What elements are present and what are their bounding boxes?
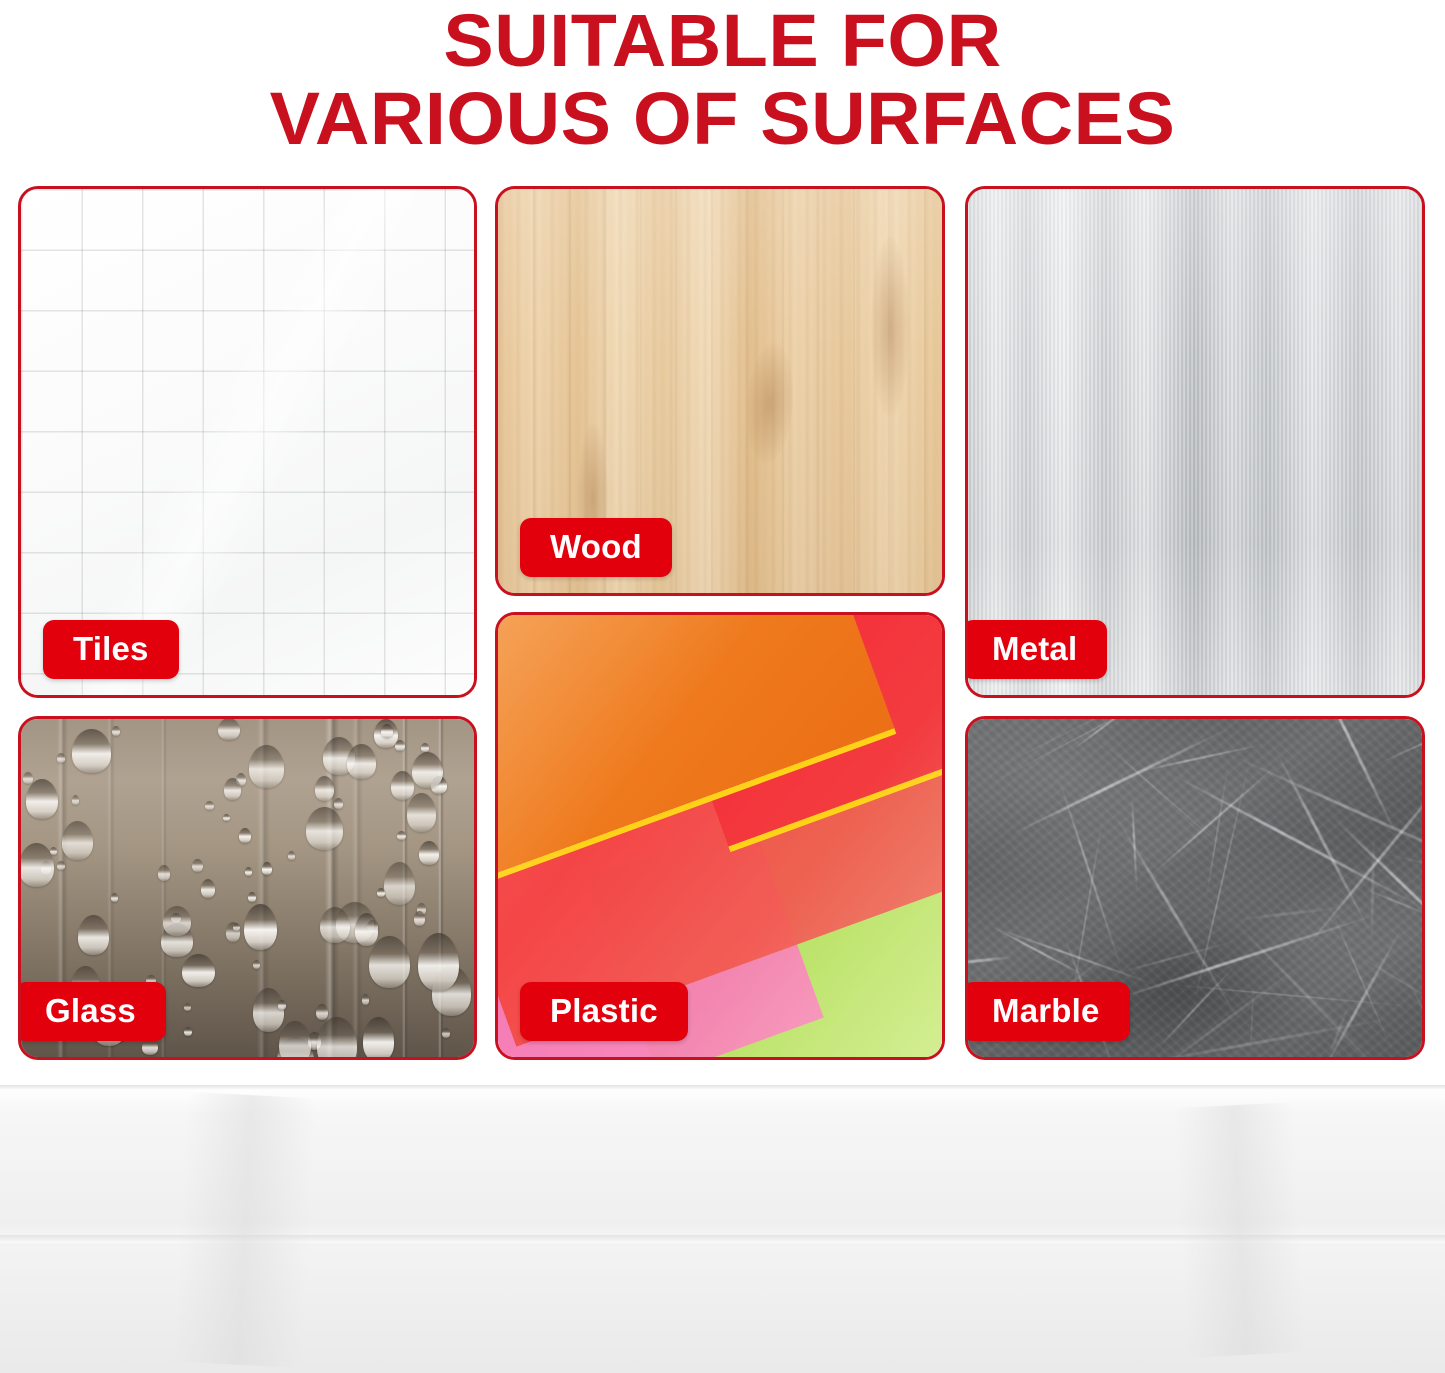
surface-panel-tiles[interactable]: Tiles xyxy=(18,186,477,698)
water-droplet xyxy=(245,867,252,876)
water-droplet xyxy=(320,907,349,944)
water-droplet xyxy=(419,841,439,865)
water-droplet xyxy=(163,906,191,936)
water-droplet xyxy=(384,862,415,905)
water-droplet xyxy=(369,936,410,988)
water-droplet xyxy=(182,954,215,988)
water-droplet xyxy=(381,724,393,738)
water-droplet xyxy=(248,892,256,902)
water-droplet xyxy=(421,743,429,752)
water-droplet xyxy=(362,994,369,1004)
water-droplet xyxy=(57,753,66,763)
water-droplet xyxy=(205,801,214,810)
water-droplet xyxy=(317,1017,358,1060)
water-droplet xyxy=(26,779,58,819)
water-droplet xyxy=(306,807,343,850)
surface-panel-marble[interactable]: Marble xyxy=(965,716,1425,1060)
countertop-highlight xyxy=(1174,1102,1307,1358)
water-droplet xyxy=(397,831,406,840)
surface-panel-wood[interactable]: Wood xyxy=(495,186,945,596)
surface-panel-metal[interactable]: Metal xyxy=(965,186,1425,698)
water-droplet xyxy=(442,1028,450,1039)
water-droplet xyxy=(278,1000,286,1010)
surface-panel-plastic[interactable]: Plastic xyxy=(495,612,945,1060)
water-droplet xyxy=(72,795,79,805)
water-droplet xyxy=(158,865,170,881)
surface-label-wood: Wood xyxy=(520,518,672,577)
water-droplet xyxy=(315,776,334,801)
water-droplet xyxy=(19,843,55,887)
water-droplet xyxy=(62,821,93,859)
water-droplet xyxy=(407,793,436,832)
water-droplet xyxy=(218,718,239,740)
water-droplet xyxy=(363,1017,395,1060)
water-droplet xyxy=(223,814,230,822)
surface-label-plastic: Plastic xyxy=(520,982,688,1041)
countertop-highlight xyxy=(173,1092,317,1368)
surface-label-glass: Glass xyxy=(18,982,166,1041)
water-droplet xyxy=(112,726,120,736)
water-droplet xyxy=(244,904,276,950)
water-droplet xyxy=(279,1021,311,1060)
surface-label-tiles: Tiles xyxy=(43,620,179,679)
surface-panel-glass[interactable]: Glass xyxy=(18,716,477,1060)
water-droplet xyxy=(288,851,295,860)
water-droplet xyxy=(412,752,442,788)
water-droplet xyxy=(78,915,109,955)
water-droplet xyxy=(355,913,378,946)
water-droplet xyxy=(111,893,118,902)
countertop-front-edge xyxy=(0,1085,1445,1090)
water-droplet xyxy=(72,729,112,773)
water-droplet xyxy=(418,933,458,991)
water-droplet xyxy=(334,798,343,809)
water-droplet xyxy=(249,745,285,788)
surface-label-metal: Metal xyxy=(965,620,1107,679)
water-droplet xyxy=(253,988,284,1032)
water-droplet xyxy=(377,888,385,897)
water-droplet xyxy=(184,1003,191,1011)
water-droplet xyxy=(262,862,272,875)
water-droplet xyxy=(395,740,405,751)
water-droplet xyxy=(184,1027,191,1036)
water-droplet xyxy=(224,778,241,800)
water-droplet xyxy=(316,1004,328,1021)
water-droplet xyxy=(253,960,260,969)
water-droplet xyxy=(201,879,215,898)
water-droplet xyxy=(391,771,414,799)
water-droplet xyxy=(192,859,203,872)
surface-label-marble: Marble xyxy=(965,982,1130,1041)
water-droplet xyxy=(347,744,377,779)
infographic-page: SUITABLE FOR VARIOUS OF SURFACES Tiles W… xyxy=(0,0,1445,1373)
water-droplet xyxy=(57,861,65,869)
water-droplet xyxy=(414,911,425,926)
water-droplet xyxy=(23,772,33,784)
water-droplet xyxy=(239,828,251,843)
bottom-countertop-surface xyxy=(0,1085,1445,1373)
